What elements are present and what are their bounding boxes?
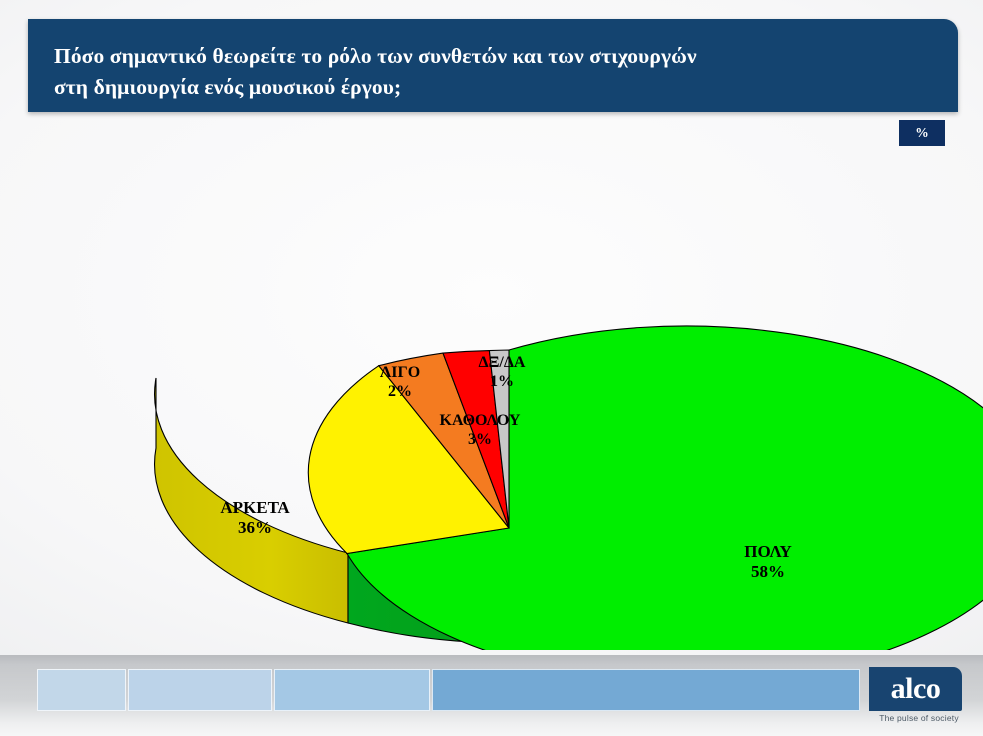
data-label-arketa-name: ΑΡΚΕΤΑ — [155, 498, 355, 518]
data-label-katholou: ΚΑΘΟΛΟΥ 3% — [400, 412, 560, 450]
data-label-poly-name: ΠΟΛΥ — [683, 542, 853, 562]
data-label-ligo-value: 2% — [345, 383, 455, 402]
alco-logo: alco — [869, 667, 962, 711]
data-label-dk-value: 1% — [442, 373, 562, 392]
alco-logo-text: alco — [891, 674, 941, 704]
data-label-poly-value: 58% — [683, 562, 853, 582]
data-label-katholou-name: ΚΑΘΟΛΟΥ — [400, 412, 560, 431]
footer — [0, 655, 983, 736]
data-label-ligo-name: ΛΙΓΟ — [345, 364, 455, 383]
title-bar: Πόσο σημαντικό θεωρείτε το ρόλο των συνθ… — [28, 19, 958, 112]
footer-bar-1 — [37, 669, 126, 711]
data-label-arketa: ΑΡΚΕΤΑ 36% — [155, 498, 355, 538]
data-label-katholou-value: 3% — [400, 431, 560, 450]
footer-bar-4 — [432, 669, 860, 711]
footer-bar-3 — [274, 669, 430, 711]
pie-chart: ΠΟΛΥ 58% ΑΡΚΕΤΑ 36% ΛΙΓΟ 2% ΚΑΘΟΛΟΥ 3% Δ… — [0, 150, 983, 650]
data-label-dk: ΔΞ/ΔΑ 1% — [442, 354, 562, 392]
footer-bar-2 — [128, 669, 272, 711]
data-label-ligo: ΛΙΓΟ 2% — [345, 364, 455, 402]
data-label-arketa-value: 36% — [155, 518, 355, 538]
data-label-poly: ΠΟΛΥ 58% — [683, 542, 853, 582]
unit-badge: % — [899, 120, 945, 146]
alco-logo-tagline: The pulse of society — [869, 713, 969, 723]
slide-root: Πόσο σημαντικό θεωρείτε το ρόλο των συνθ… — [0, 0, 983, 736]
page-title: Πόσο σημαντικό θεωρείτε το ρόλο των συνθ… — [54, 41, 932, 103]
data-label-dk-name: ΔΞ/ΔΑ — [442, 354, 562, 373]
